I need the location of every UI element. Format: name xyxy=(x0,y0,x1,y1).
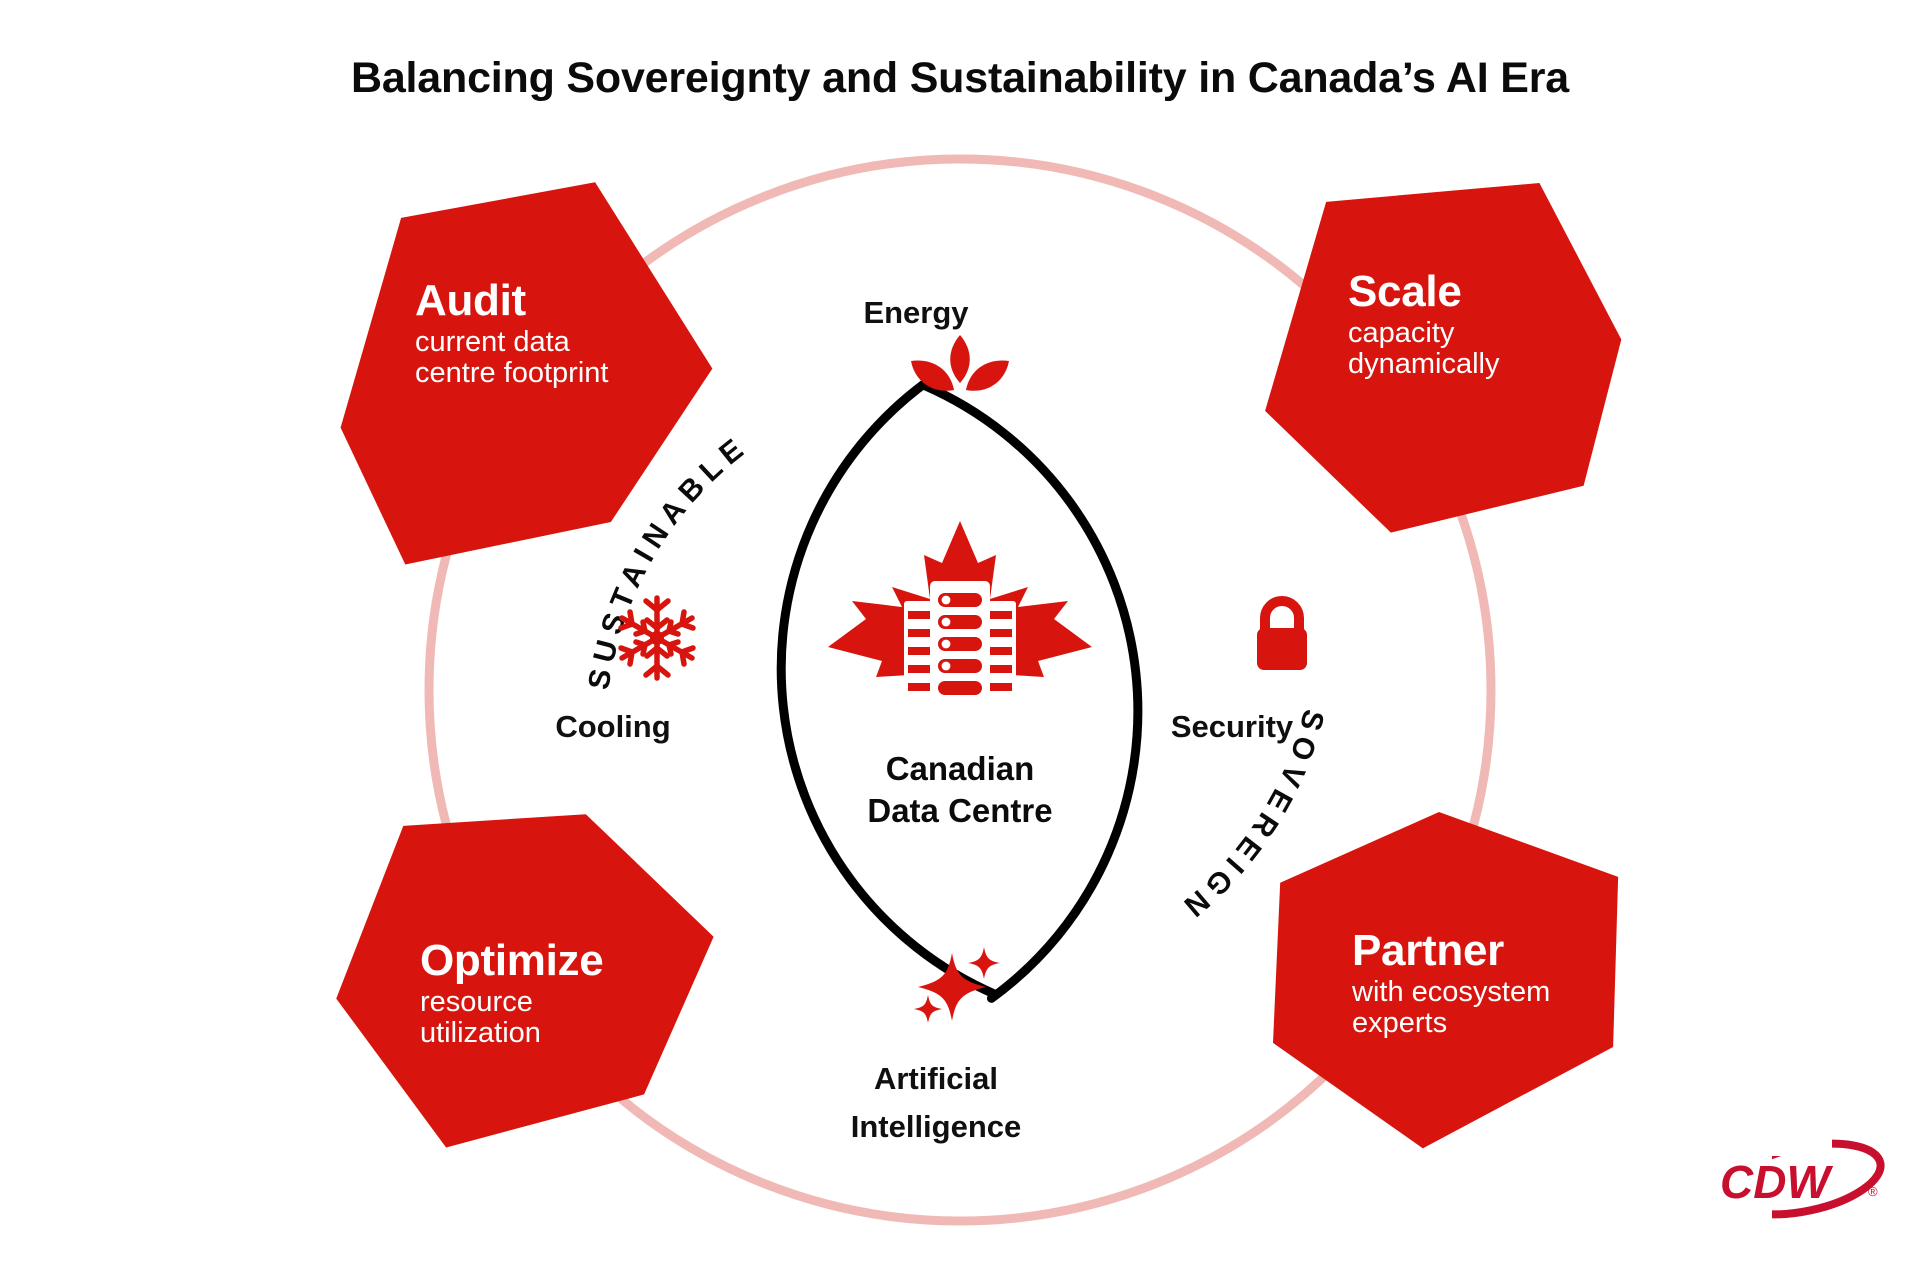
callout-sub-scale-line1: capacity xyxy=(1348,318,1500,349)
cdw-logo-trademark: ® xyxy=(1868,1184,1878,1199)
callout-sub-audit-line1: current data xyxy=(415,327,608,358)
callout-card-partner[interactable]: Partner with ecosystem experts xyxy=(1352,927,1550,1039)
node-label-ai: Artificial Intelligence xyxy=(816,1055,1056,1151)
infographic-diagram: SUSTAINABLE SOVEREIGN xyxy=(0,0,1920,1280)
maple-leaf-data-centre-icon xyxy=(820,515,1100,738)
callout-head-optimize: Optimize xyxy=(420,937,603,985)
node-label-security: Security xyxy=(1112,707,1352,747)
cdw-logo[interactable]: CDW ® xyxy=(1712,1138,1892,1224)
callout-sub-partner-line2: experts xyxy=(1352,1008,1550,1039)
sparkles-icon xyxy=(912,945,1004,1032)
centre-label-line2: Data Centre xyxy=(770,790,1150,832)
callout-sub-audit: current data centre footprint xyxy=(415,327,608,390)
cdw-logo-text: CDW xyxy=(1720,1156,1833,1208)
node-label-ai-line1: Artificial xyxy=(874,1061,998,1096)
centre-label: Canadian Data Centre xyxy=(770,748,1150,832)
callout-sub-scale: capacity dynamically xyxy=(1348,318,1500,381)
callout-head-partner: Partner xyxy=(1352,927,1550,975)
callout-card-optimize[interactable]: Optimize resource utilization xyxy=(420,937,603,1049)
callout-sub-optimize-line2: utilization xyxy=(420,1018,603,1049)
callout-sub-scale-line2: dynamically xyxy=(1348,349,1500,380)
node-label-energy: Energy xyxy=(806,293,1026,333)
callout-sub-partner-line1: with ecosystem xyxy=(1352,977,1550,1008)
centre-label-line1: Canadian xyxy=(770,748,1150,790)
callout-sub-optimize-line1: resource xyxy=(420,987,603,1018)
leaf-sprout-icon xyxy=(908,335,1012,416)
node-label-ai-line2: Intelligence xyxy=(851,1109,1022,1144)
callout-sub-optimize: resource utilization xyxy=(420,987,603,1050)
callout-head-scale: Scale xyxy=(1348,268,1500,316)
callout-sub-audit-line2: centre footprint xyxy=(415,358,608,389)
callout-card-scale[interactable]: Scale capacity dynamically xyxy=(1348,268,1500,380)
callout-card-audit[interactable]: Audit current data centre footprint xyxy=(415,277,608,389)
callout-head-audit: Audit xyxy=(415,277,608,325)
callout-sub-partner: with ecosystem experts xyxy=(1352,977,1550,1040)
snowflake-icon xyxy=(614,594,700,687)
padlock-icon xyxy=(1251,596,1313,677)
node-label-cooling: Cooling xyxy=(493,707,733,747)
